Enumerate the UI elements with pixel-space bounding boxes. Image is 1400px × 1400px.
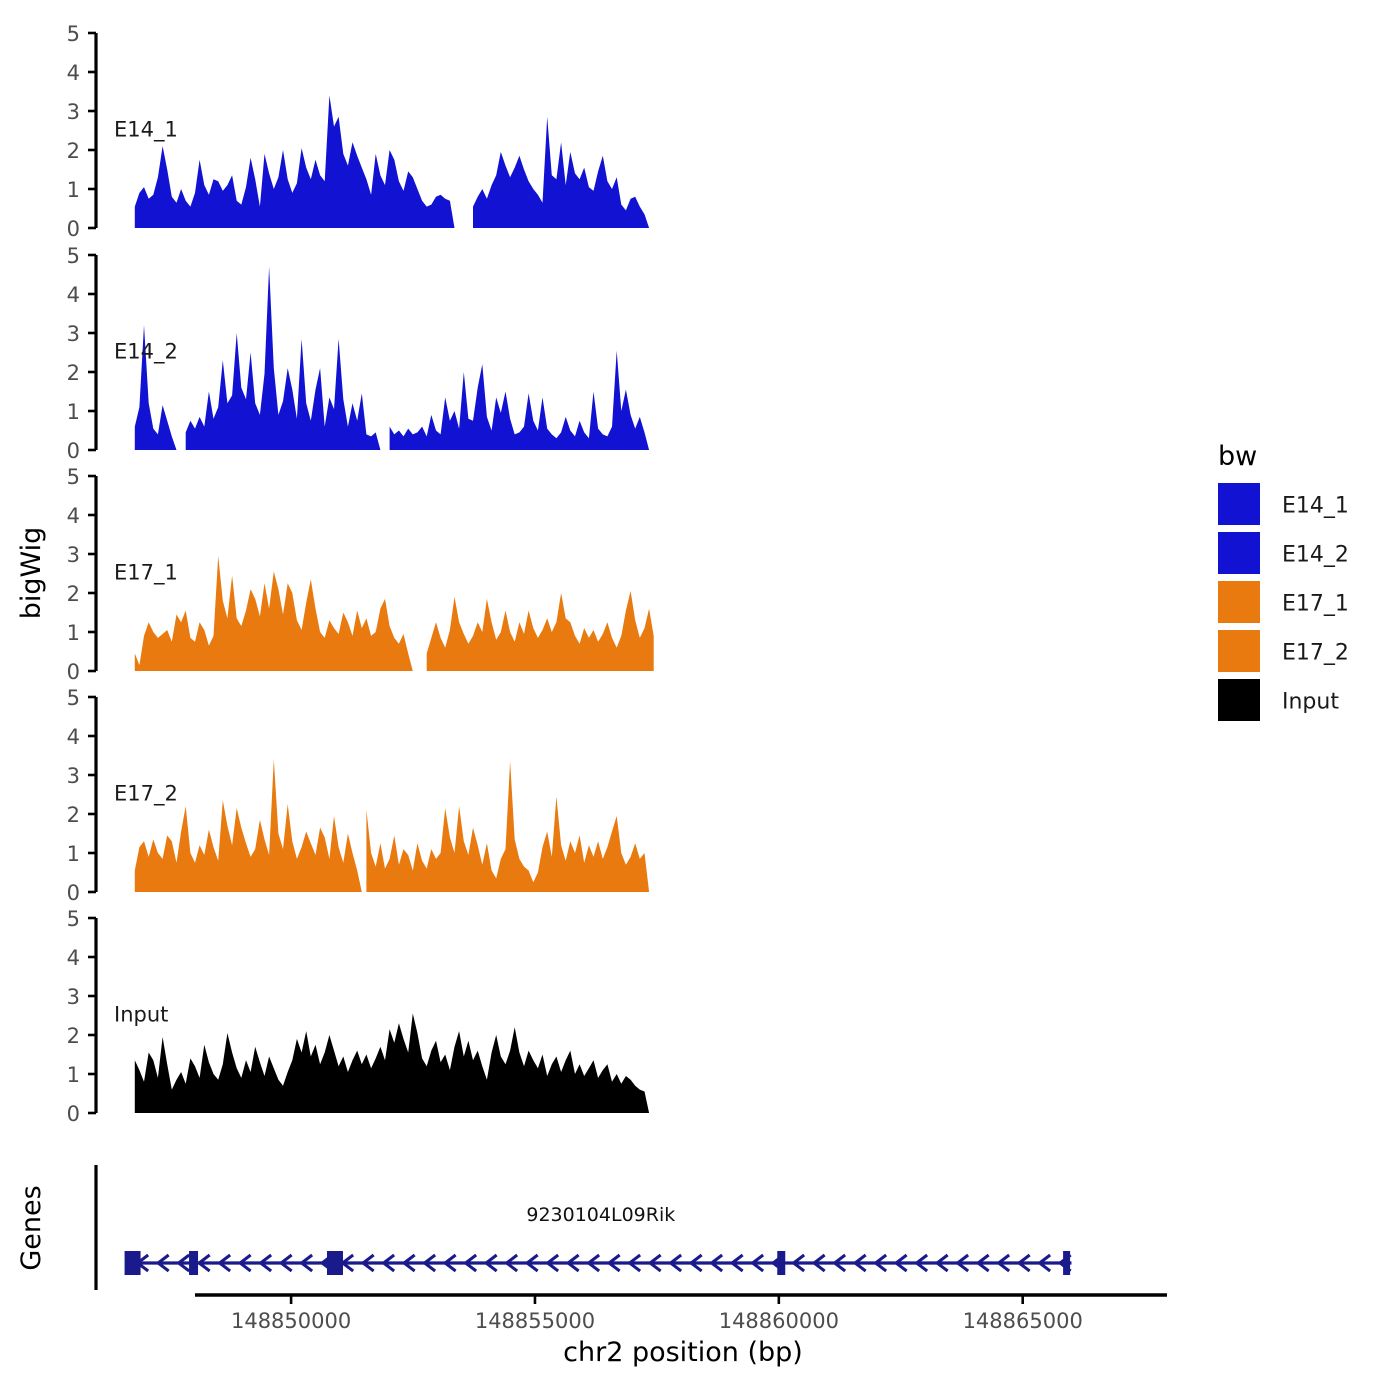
- y-tick-label-E14_1-5: 5: [67, 22, 80, 46]
- gene-exon-2: [189, 1251, 198, 1275]
- y-tick-label-E14_1-1: 1: [67, 178, 80, 202]
- y-tick-label-E17_2-5: 5: [67, 686, 80, 710]
- y-tick-label-Input-1: 1: [67, 1063, 80, 1087]
- y-tick-label-Input-5: 5: [67, 907, 80, 931]
- y-tick-label-E17_2-2: 2: [67, 803, 80, 827]
- track-panel-E14_1: 012345E14_1: [67, 22, 649, 241]
- x-tick-label-148850000: 148850000: [231, 1309, 351, 1333]
- legend-title-text: bw: [1218, 441, 1257, 472]
- genome-browser-figure: 012345E14_1012345E14_2012345E17_1012345E…: [0, 0, 1400, 1400]
- y-tick-label-E17_1-5: 5: [67, 465, 80, 489]
- track-label-E17_1: E17_1: [114, 560, 178, 585]
- track-area-E14_2: [135, 267, 649, 450]
- legend-item-E17_1[interactable]: E17_1: [1218, 581, 1349, 623]
- legend-item-Input[interactable]: Input: [1218, 679, 1339, 721]
- genes-panel: Genes9230104L09Rik: [16, 1165, 1071, 1290]
- y-tick-label-E17_2-3: 3: [67, 764, 80, 788]
- legend-swatch-E17_2[interactable]: [1218, 630, 1260, 672]
- track-panel-E14_2: 012345E14_2: [67, 244, 649, 463]
- track-label-Input: Input: [114, 1002, 168, 1026]
- y-tick-label-E17_1-0: 0: [67, 660, 80, 684]
- track-area-E14_1: [135, 95, 649, 228]
- x-axis-title-text: chr2 position (bp): [563, 1337, 803, 1368]
- legend-swatch-E17_1[interactable]: [1218, 581, 1260, 623]
- y-tick-label-E14_1-2: 2: [67, 139, 80, 163]
- y-tick-label-E14_1-0: 0: [67, 217, 80, 241]
- y-tick-label-E14_2-1: 1: [67, 400, 80, 424]
- legend-swatch-E14_1[interactable]: [1218, 483, 1260, 525]
- y-tick-label-E14_2-4: 4: [67, 283, 80, 307]
- x-tick-label-148855000: 148855000: [475, 1309, 595, 1333]
- y-tick-label-E14_2-2: 2: [67, 361, 80, 385]
- legend-label-E14_1: E14_1: [1282, 493, 1349, 518]
- x-axis: 148850000148855000148860000148865000chr2…: [195, 1295, 1167, 1368]
- legend-label-E17_1: E17_1: [1282, 591, 1349, 616]
- y-tick-label-E17_2-4: 4: [67, 725, 80, 749]
- gene-exon-4: [777, 1251, 785, 1275]
- y-tick-label-E14_2-3: 3: [67, 322, 80, 346]
- y-tick-label-E17_1-3: 3: [67, 543, 80, 567]
- y-tick-label-Input-2: 2: [67, 1024, 80, 1048]
- y-tick-label-E14_1-4: 4: [67, 61, 80, 85]
- track-area-E17_1: [135, 556, 654, 671]
- figure-canvas: 012345E14_1012345E14_2012345E17_1012345E…: [0, 0, 1400, 1400]
- x-tick-label-148860000: 148860000: [719, 1309, 839, 1333]
- track-area-Input: [135, 1014, 649, 1114]
- track-panel-Input: 012345Input: [67, 907, 649, 1126]
- y-tick-label-E14_1-3: 3: [67, 100, 80, 124]
- track-panel-E17_1: 012345E17_1: [67, 465, 654, 684]
- legend-label-E17_2: E17_2: [1282, 640, 1349, 665]
- bigwig-axis-title-text: bigWig: [16, 527, 47, 620]
- bigwig-axis-title: bigWig: [16, 527, 47, 620]
- x-tick-label-148865000: 148865000: [963, 1309, 1083, 1333]
- legend-item-E17_2[interactable]: E17_2: [1218, 630, 1349, 672]
- gene-exon-5: [1063, 1251, 1070, 1275]
- legend-swatch-Input[interactable]: [1218, 679, 1260, 721]
- gene-name-label: 9230104L09Rik: [526, 1204, 675, 1226]
- genes-axis-title-text: Genes: [16, 1185, 47, 1270]
- legend-label-Input: Input: [1282, 689, 1339, 714]
- y-tick-label-Input-4: 4: [67, 946, 80, 970]
- legend-item-E14_2[interactable]: E14_2: [1218, 532, 1349, 574]
- y-tick-label-Input-0: 0: [67, 1102, 80, 1126]
- legend-swatch-E14_2[interactable]: [1218, 532, 1260, 574]
- track-label-E14_2: E14_2: [114, 339, 178, 364]
- legend-item-E14_1[interactable]: E14_1: [1218, 483, 1349, 525]
- y-tick-label-E14_2-5: 5: [67, 244, 80, 268]
- y-tick-label-E17_2-0: 0: [67, 881, 80, 905]
- y-tick-label-Input-3: 3: [67, 985, 80, 1009]
- y-tick-label-E17_2-1: 1: [67, 842, 80, 866]
- track-label-E17_2: E17_2: [114, 781, 178, 806]
- track-area-E17_2: [135, 759, 649, 892]
- y-tick-label-E17_1-2: 2: [67, 582, 80, 606]
- legend-label-E14_2: E14_2: [1282, 542, 1349, 567]
- gene-exon-3: [327, 1251, 343, 1275]
- legend[interactable]: bwE14_1E14_2E17_1E17_2Input: [1218, 441, 1349, 721]
- y-tick-label-E17_1-4: 4: [67, 504, 80, 528]
- track-panel-E17_2: 012345E17_2: [67, 686, 649, 905]
- gene-exon-1: [125, 1251, 141, 1275]
- y-tick-label-E14_2-0: 0: [67, 439, 80, 463]
- y-tick-label-E17_1-1: 1: [67, 621, 80, 645]
- track-label-E14_1: E14_1: [114, 117, 178, 142]
